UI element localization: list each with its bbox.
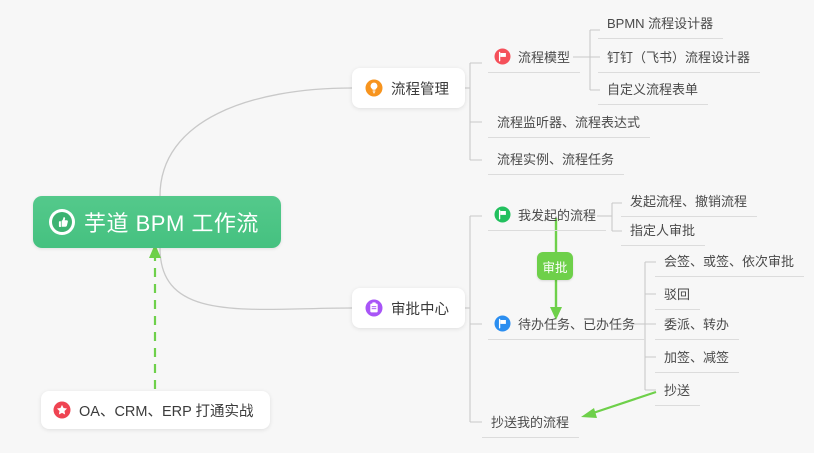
flag-icon (494, 206, 511, 223)
leaf-process-listener[interactable]: 流程监听器、流程表达式 (488, 109, 650, 138)
leaf-countersign[interactable]: 会签、或签、依次审批 (655, 248, 804, 277)
integration-tag[interactable]: OA、CRM、ERP 打通实战 (41, 391, 270, 429)
leaf-delegate-transfer[interactable]: 委派、转办 (655, 311, 739, 340)
leaf-carbon-copy[interactable]: 抄送 (655, 377, 700, 406)
link-root-approve (160, 248, 352, 309)
leaf-bpmn-designer[interactable]: BPMN 流程设计器 (598, 10, 723, 39)
approve-badge: 审批 (537, 252, 573, 280)
lightbulb-icon (365, 79, 383, 97)
approve-badge-label: 审批 (542, 257, 567, 276)
thumbs-up-icon (49, 209, 75, 235)
leaf-todo-done-tasks[interactable]: 待办任务、已办任务 (488, 311, 645, 340)
leaf-start-cancel-process[interactable]: 发起流程、撤销流程 (621, 188, 757, 217)
bracket-approve (470, 216, 482, 422)
flag-icon (494, 315, 511, 332)
leaf-label-my-initiated-process: 我发起的流程 (518, 205, 596, 224)
mindmap-canvas: 芋道 BPM 工作流 流程管理 流程模型 BPMN 流程设计器 钉钉（飞书）流程 (0, 0, 814, 453)
bracket-process (470, 63, 482, 160)
leaf-process-model[interactable]: 流程模型 (488, 44, 580, 73)
leaf-reject[interactable]: 驳回 (655, 281, 700, 310)
branch-node-process-management[interactable]: 流程管理 (352, 68, 465, 108)
leaf-process-instance[interactable]: 流程实例、流程任务 (488, 146, 624, 175)
leaf-cc-my-process[interactable]: 抄送我的流程 (482, 409, 579, 438)
branch-label-approval-center: 审批中心 (391, 298, 449, 319)
leaf-custom-form[interactable]: 自定义流程表单 (598, 76, 708, 105)
leaf-designated-approver[interactable]: 指定人审批 (621, 217, 705, 246)
integration-tag-label: OA、CRM、ERP 打通实战 (79, 400, 254, 421)
arrow-cc-head (581, 408, 597, 418)
star-icon (53, 401, 71, 419)
leaf-dingtalk-designer[interactable]: 钉钉（飞书）流程设计器 (598, 44, 760, 73)
arrow-cc-flow (590, 392, 656, 414)
flag-icon (494, 48, 511, 65)
leaf-label-todo-done-tasks: 待办任务、已办任务 (518, 314, 635, 333)
leaf-my-initiated-process[interactable]: 我发起的流程 (488, 202, 606, 231)
branch-node-approval-center[interactable]: 审批中心 (352, 288, 465, 328)
link-root-process (160, 88, 352, 196)
leaf-label-process-model: 流程模型 (518, 47, 570, 66)
root-node[interactable]: 芋道 BPM 工作流 (33, 196, 281, 248)
clipboard-icon (365, 299, 383, 317)
branch-label-process-management: 流程管理 (391, 78, 449, 99)
root-label: 芋道 BPM 工作流 (84, 206, 259, 238)
leaf-add-remove-sign[interactable]: 加签、减签 (655, 344, 739, 373)
